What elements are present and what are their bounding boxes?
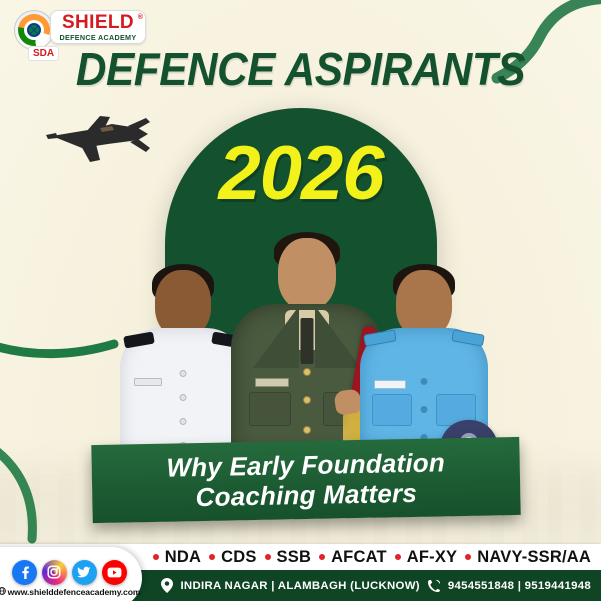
phone-icon xyxy=(427,579,441,593)
name-placard xyxy=(374,380,406,389)
course-item: NAVY-SSR/AA xyxy=(457,548,591,567)
poster: SHIELD DEFENCE ACADEMY ® SDA DEFENCE ASP… xyxy=(0,0,601,601)
bullet-dot-icon xyxy=(153,554,159,560)
course-label: AFCAT xyxy=(331,548,387,567)
bullet-dot-icon xyxy=(319,554,325,560)
epaulette xyxy=(363,329,397,346)
registered-icon: ® xyxy=(138,14,143,21)
globe-icon xyxy=(0,587,6,597)
uniform-button xyxy=(303,426,311,434)
uniform-button xyxy=(180,418,187,425)
uniform-pocket xyxy=(372,394,412,426)
course-label: AF-XY xyxy=(407,548,458,567)
page-title: DEFENCE ASPIRANTS xyxy=(24,46,577,92)
cadets-group xyxy=(118,228,490,468)
course-label: SSB xyxy=(277,548,312,567)
phone-numbers: 9454551848 | 9519441948 xyxy=(448,580,591,592)
course-item: AFCAT xyxy=(311,548,387,567)
location-text: INDIRA NAGAR | ALAMBAGH (LUCKNOW) xyxy=(180,580,419,592)
ashoka-chakra-emblem-icon xyxy=(14,10,54,50)
social-panel: www.shielddefenceacademy.com xyxy=(0,547,142,601)
bullet-dot-icon xyxy=(465,554,471,560)
logo-sub-text: DEFENCE ACADEMY xyxy=(60,34,137,41)
course-item: AF-XY xyxy=(387,548,458,567)
uniform-button xyxy=(421,406,428,413)
uniform-button xyxy=(180,370,187,377)
uniform-button xyxy=(180,394,187,401)
course-item: CDS xyxy=(201,548,256,567)
bullet-dot-icon xyxy=(395,554,401,560)
course-label: CDS xyxy=(221,548,256,567)
instagram-icon[interactable] xyxy=(42,560,67,585)
website-text: www.shielddefenceacademy.com xyxy=(8,587,141,597)
head xyxy=(278,238,336,310)
facebook-icon[interactable] xyxy=(12,560,37,585)
course-item: SSB xyxy=(257,548,312,567)
social-icons xyxy=(12,560,127,585)
bullet-dot-icon xyxy=(265,554,271,560)
necktie xyxy=(301,318,314,364)
twitter-icon[interactable] xyxy=(72,560,97,585)
course-item: NDA xyxy=(145,548,201,567)
bullet-dot-icon xyxy=(209,554,215,560)
name-placard xyxy=(134,378,162,386)
uniform-pocket xyxy=(249,392,291,426)
logo-plate: SHIELD DEFENCE ACADEMY ® xyxy=(50,10,146,44)
website-row[interactable]: www.shielddefenceacademy.com xyxy=(0,587,140,597)
air-force-cadet xyxy=(358,252,490,468)
uniform-button xyxy=(303,396,311,404)
epaulette xyxy=(451,329,485,346)
course-label: NDA xyxy=(165,548,201,567)
logo-main-text: SHIELD xyxy=(62,13,134,32)
fighter-jet-icon xyxy=(42,106,158,172)
tagline-banner: Why Early Foundation Coaching Matters xyxy=(91,437,520,523)
course-list: NDACDSSSBAFCATAF-XYNAVY-SSR/AA xyxy=(145,548,601,567)
uniform-button xyxy=(303,368,311,376)
uniform-button xyxy=(421,378,428,385)
course-label: NAVY-SSR/AA xyxy=(477,548,591,567)
shoulder-board xyxy=(123,331,155,348)
youtube-icon[interactable] xyxy=(102,560,127,585)
location-pin-icon xyxy=(161,578,173,593)
year-text: 2026 xyxy=(165,136,437,212)
tagline-line-2: Coaching Matters xyxy=(195,478,417,512)
name-placard xyxy=(255,378,289,387)
